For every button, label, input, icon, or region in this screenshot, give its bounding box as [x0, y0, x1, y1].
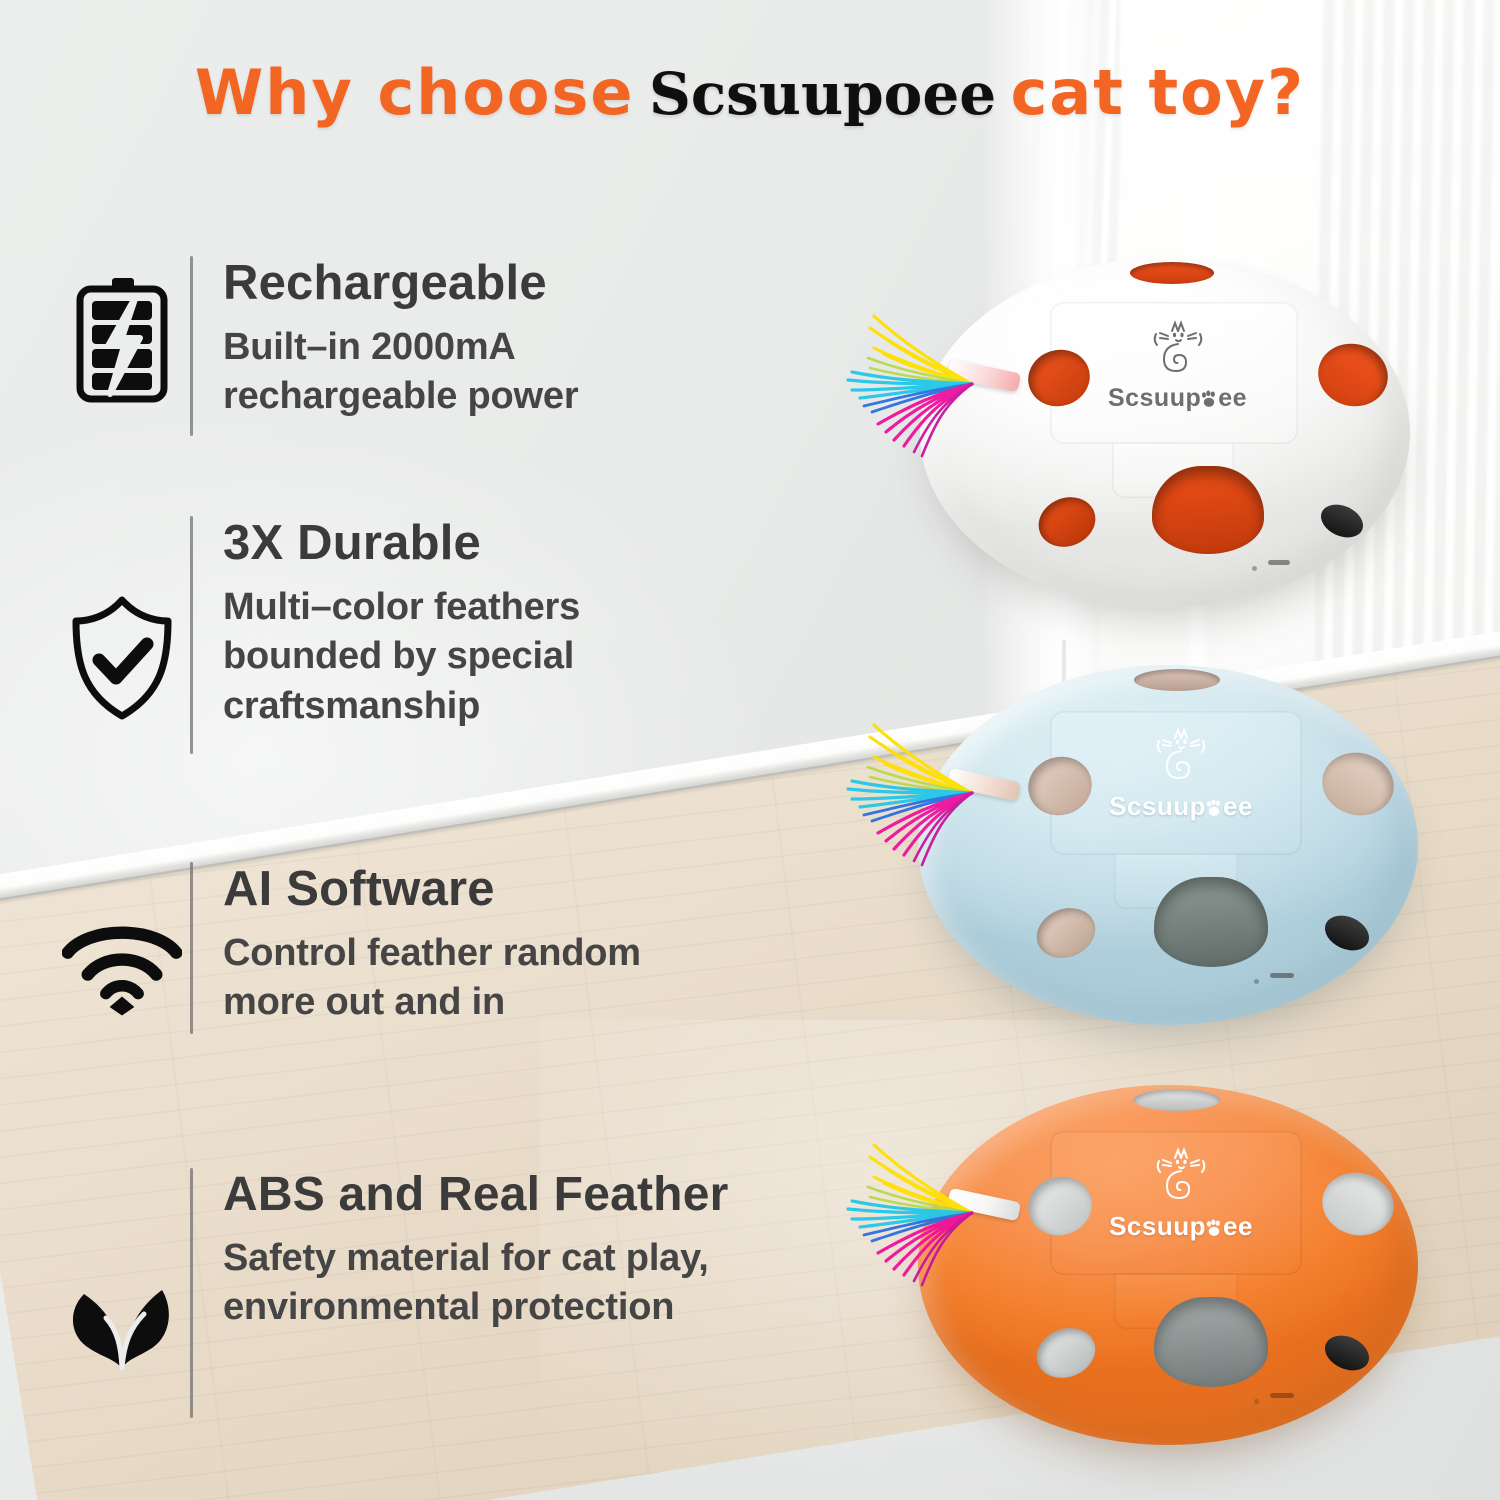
page-title: Why choose Scsuupoee cat toy?: [0, 62, 1500, 124]
feature-text: Rechargeable Built–in 2000mA rechargeabl…: [223, 256, 762, 422]
infographic-canvas: Why choose Scsuupoee cat toy? Rechargeab…: [0, 0, 1500, 1500]
battery-charging-icon: [62, 256, 182, 404]
device-logo-area: Scsuup ee: [1092, 727, 1270, 819]
feature-heading: Rechargeable: [223, 256, 762, 311]
status-led: [1254, 979, 1259, 984]
multicolor-feather: [822, 300, 1012, 460]
wordmark-seg-1: Scsuup: [1109, 791, 1206, 821]
multicolor-feather: [822, 709, 1012, 869]
feature-text: 3X Durable Multi–color feathers bounded …: [223, 516, 762, 731]
feature-body: Multi–color feathers bounded by special …: [223, 583, 743, 731]
feature-divider: [190, 1168, 193, 1418]
feature-divider: [190, 862, 193, 1034]
device-wordmark: Scsuup ee: [1092, 793, 1270, 819]
product-blue-cat-toy[interactable]: Scsuup ee: [918, 665, 1418, 1025]
cat-spiral-logo-icon: [1149, 1147, 1213, 1209]
feature-block-abs-real-feather: ABS and Real Feather Safety material for…: [62, 1168, 822, 1418]
device-logo-area: Scsuup ee: [1090, 320, 1265, 411]
multicolor-feather: [822, 1129, 1012, 1289]
feature-block-durable: 3X Durable Multi–color feathers bounded …: [62, 516, 762, 754]
feature-heading: AI Software: [223, 862, 782, 917]
feature-heading: ABS and Real Feather: [223, 1168, 822, 1222]
cat-spiral-logo-icon: [1149, 727, 1213, 789]
shield-check-icon: [62, 516, 182, 722]
device-hole-front: [1154, 1297, 1268, 1387]
feature-divider: [190, 256, 193, 436]
device-wordmark: Scsuup ee: [1090, 386, 1265, 411]
wordmark-seg-2: ee: [1218, 384, 1247, 412]
wordmark-seg-2: ee: [1223, 791, 1253, 821]
feature-body: Safety material for cat play, environmen…: [223, 1234, 723, 1333]
device-hole-top: [1134, 1089, 1220, 1111]
product-orange-cat-toy[interactable]: Scsuup ee: [918, 1085, 1418, 1445]
feature-block-rechargeable: Rechargeable Built–in 2000mA rechargeabl…: [62, 256, 762, 436]
title-part-2: cat toy?: [1011, 56, 1305, 129]
device-hole-top: [1134, 669, 1220, 691]
leaf-sprout-icon: [62, 1168, 182, 1370]
paw-print-icon: [1201, 386, 1218, 411]
feature-divider: [190, 516, 193, 754]
status-led: [1252, 566, 1257, 571]
paw-print-icon: [1206, 793, 1223, 819]
charge-port: [1268, 560, 1290, 565]
charge-port: [1270, 973, 1294, 978]
cat-spiral-logo-icon: [1146, 320, 1210, 382]
wordmark-seg-1: Scsuup: [1108, 384, 1201, 412]
status-led: [1254, 1399, 1259, 1404]
wordmark-seg-2: ee: [1223, 1211, 1253, 1241]
feature-body: Control feather random more out and in: [223, 929, 743, 1028]
device-hole-front: [1152, 466, 1264, 554]
feature-text: AI Software Control feather random more …: [223, 862, 782, 1028]
device-hole-front: [1154, 877, 1268, 967]
device-logo-area: Scsuup ee: [1092, 1147, 1270, 1239]
device-hole-top: [1130, 262, 1214, 284]
feature-text: ABS and Real Feather Safety material for…: [223, 1168, 822, 1333]
wordmark-seg-1: Scsuup: [1109, 1211, 1206, 1241]
product-white-cat-toy[interactable]: Scsuup ee: [920, 258, 1410, 608]
charge-port: [1270, 1393, 1294, 1398]
title-brand-name: Scsuupoee: [639, 60, 1006, 128]
device-wordmark: Scsuup ee: [1092, 1213, 1270, 1239]
wifi-signal-icon: [62, 862, 182, 1018]
paw-print-icon: [1206, 1213, 1223, 1239]
title-part-1: Why choose: [195, 56, 635, 129]
feature-body: Built–in 2000mA rechargeable power: [223, 323, 743, 422]
feature-block-ai-software: AI Software Control feather random more …: [62, 862, 782, 1034]
feature-heading: 3X Durable: [223, 516, 762, 571]
